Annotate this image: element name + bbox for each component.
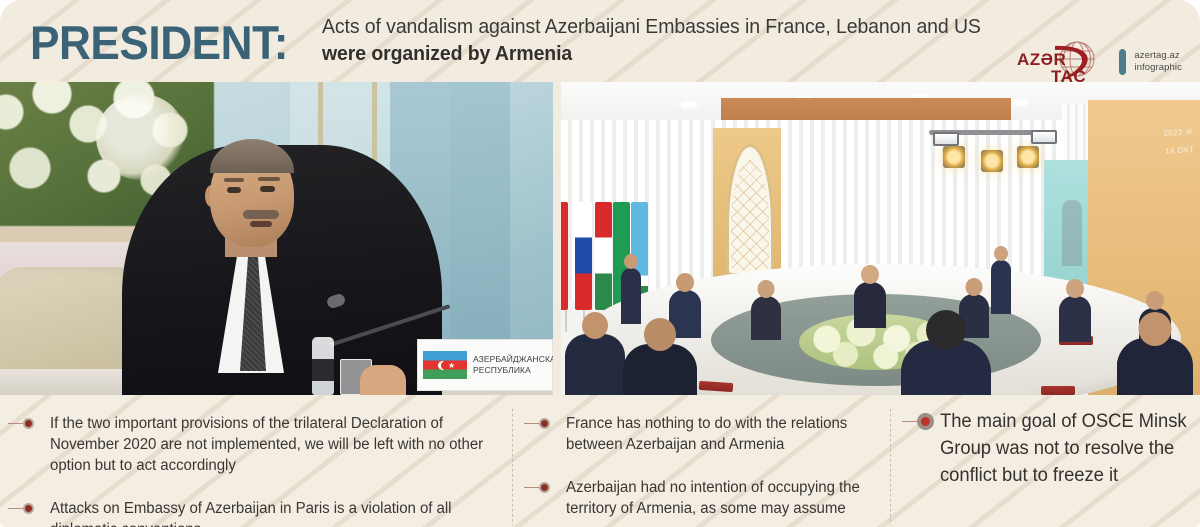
column-divider (512, 409, 513, 525)
azerbaijan-flag-icon: ★ (423, 351, 467, 379)
photo-strip: ★ АЗЕРБАЙДЖАНСКАЯ РЕСПУБЛИКА (0, 82, 1200, 395)
nameplate-line-1: АЗЕРБАЙДЖАНСКАЯ (473, 354, 553, 365)
bullet-marker-icon (524, 477, 566, 497)
quote-text: If the two important provisions of the t… (50, 413, 498, 476)
quote-text: The main goal of OSCE Minsk Group was no… (940, 409, 1192, 490)
foreground-delegate-figure (623, 344, 697, 395)
photo-divider (553, 82, 561, 395)
cameraman-figure (621, 268, 641, 324)
brand-separator-bar (1119, 49, 1126, 75)
quote-item: If the two important provisions of the t… (8, 413, 512, 476)
bullet-marker-icon (8, 413, 50, 433)
quote-text: France has nothing to do with the relati… (566, 413, 880, 455)
quotes-column-1: If the two important provisions of the t… (0, 403, 512, 527)
bullet-marker-icon (902, 409, 940, 433)
delegate-figure (751, 296, 781, 340)
quote-item: France has nothing to do with the relati… (524, 413, 890, 455)
foreground-delegate-figure (1117, 338, 1193, 395)
bullet-marker-icon (8, 498, 50, 518)
delegate-figure (854, 282, 886, 328)
infographic-poster: PRESIDENT: Acts of vandalism against Aze… (0, 0, 1200, 527)
nameplate-line-2: РЕСПУБЛИКА (473, 365, 553, 376)
quotes-footer: If the two important provisions of the t… (0, 395, 1200, 527)
brand-site: azertag.az (1134, 50, 1182, 62)
quote-item: Azerbaijan had no intention of occupying… (524, 477, 890, 519)
quotes-column-3: The main goal of OSCE Minsk Group was no… (890, 403, 1200, 527)
azertac-logo-icon: AZƏR TAC (1015, 40, 1111, 82)
column-divider (890, 409, 891, 525)
wall-text-line-1: 2022 Ж (1163, 123, 1194, 143)
foreground-delegate-figure (901, 340, 991, 395)
wall-date-text: 2022 Ж 14 ОКТ (1163, 123, 1195, 160)
azertac-brand[interactable]: AZƏR TAC azertag.az infographic (1015, 40, 1182, 82)
page-title: Acts of vandalism against Azerbaijani Em… (322, 14, 1016, 68)
headline-line-2: were organized by Armenia (322, 40, 981, 68)
bullet-marker-icon (524, 413, 566, 433)
page-kicker: PRESIDENT: (30, 19, 288, 66)
country-nameplate: ★ АЗЕРБАЙДЖАНСКАЯ РЕСПУБЛИКА (417, 339, 553, 391)
foreground-delegate-figure (565, 334, 625, 395)
brand-label: infographic (1134, 62, 1182, 74)
wall-text-line-2: 14 ОКТ (1164, 141, 1195, 161)
president-speaking-photo: ★ АЗЕРБАЙДЖАНСКАЯ РЕСПУБЛИКА (0, 82, 553, 395)
quote-item: Attacks on Embassy of Azerbaijan in Pari… (8, 498, 512, 527)
cis-summit-roundtable-photo: 2022 Ж 14 ОКТ (561, 82, 1200, 395)
standing-aide-figure (991, 260, 1011, 314)
headline-line-1: Acts of vandalism against Azerbaijani Em… (322, 14, 981, 40)
quotes-column-2: France has nothing to do with the relati… (512, 403, 890, 527)
quote-text: Attacks on Embassy of Azerbaijan in Pari… (50, 498, 498, 527)
header-banner: PRESIDENT: Acts of vandalism against Aze… (0, 0, 1200, 82)
brand-text: azertag.az infographic (1134, 50, 1182, 74)
quote-text: Azerbaijan had no intention of occupying… (566, 477, 880, 519)
delegate-figure (1059, 296, 1091, 342)
svg-text:TAC: TAC (1051, 67, 1086, 82)
quote-item: The main goal of OSCE Minsk Group was no… (902, 409, 1200, 490)
